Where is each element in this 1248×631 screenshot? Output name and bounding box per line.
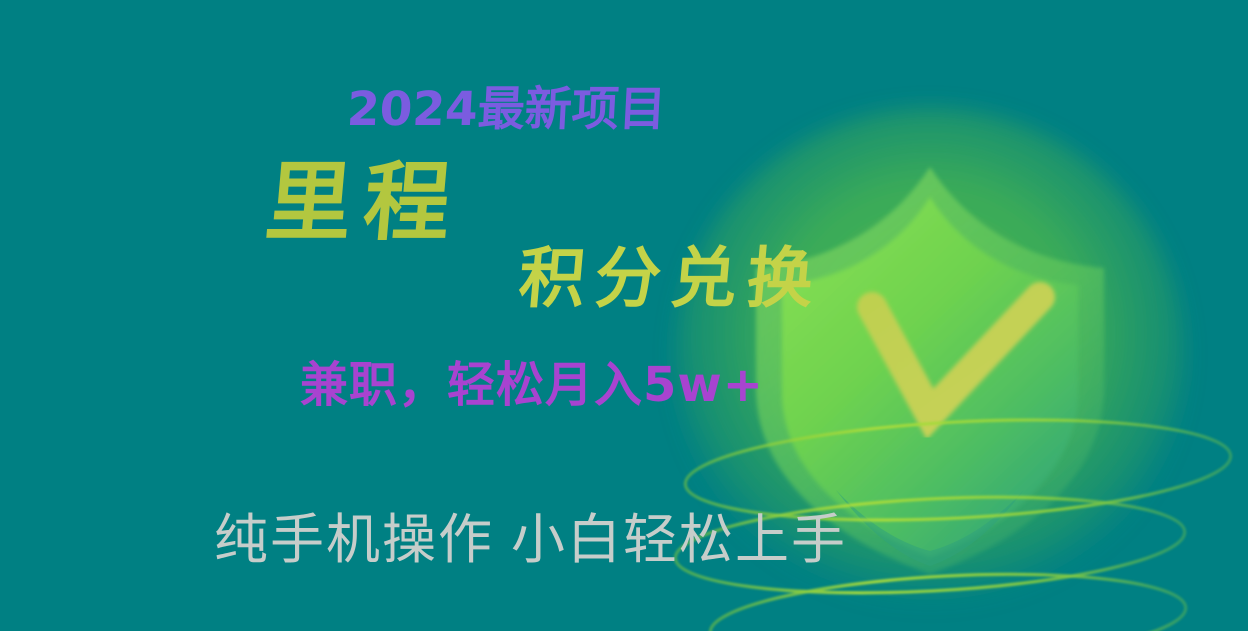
headline-stack: 2024最新项目 里程 积分兑换 兼职，轻松月入5w+ 纯手机操作 小白轻松上手	[0, 0, 1248, 631]
tagline-text: 2024最新项目	[346, 86, 667, 133]
footer-text: 纯手机操作 小白轻松上手	[214, 513, 847, 567]
title-text: 里程	[262, 160, 466, 246]
subtitle-text: 积分兑换	[516, 246, 826, 312]
benefit-text: 兼职，轻松月入5w+	[300, 361, 764, 409]
promo-banner: 2024最新项目 里程 积分兑换 兼职，轻松月入5w+ 纯手机操作 小白轻松上手	[0, 0, 1248, 631]
